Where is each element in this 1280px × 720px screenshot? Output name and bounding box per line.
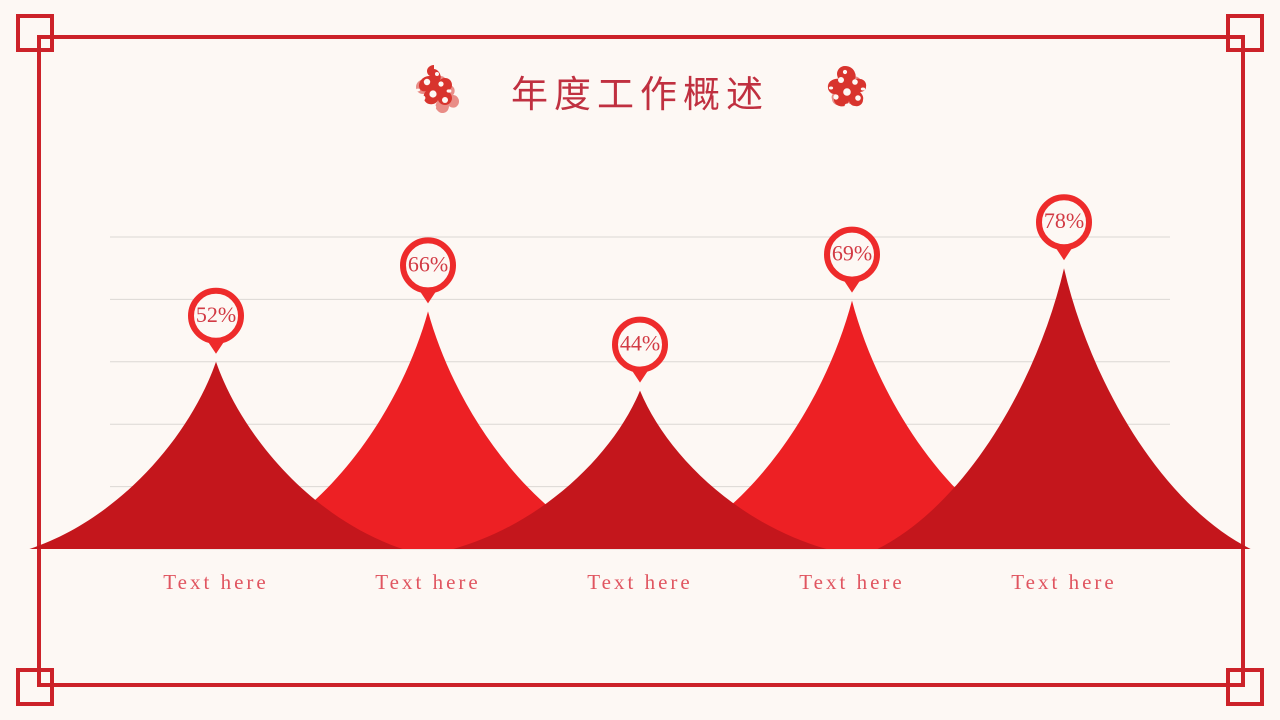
mountain-area-chart: 52%66%44%69%78% xyxy=(110,180,1170,555)
value-marker-pin[interactable]: 66% xyxy=(403,240,453,303)
pin-value-label: 69% xyxy=(832,241,872,266)
category-label: Text here xyxy=(163,570,268,595)
frame-line-left xyxy=(37,35,41,687)
frame-corner-top-left-icon xyxy=(16,14,54,52)
pin-value-label: 66% xyxy=(408,251,448,276)
chart-area: 52%66%44%69%78% xyxy=(110,180,1170,555)
papercut-ornament-left-icon xyxy=(403,60,465,122)
frame-corner-top-right-icon xyxy=(1226,14,1264,52)
pin-value-label: 44% xyxy=(620,331,660,356)
frame-line-top xyxy=(37,35,1245,39)
category-label: Text here xyxy=(375,570,480,595)
value-marker-pin[interactable]: 44% xyxy=(615,320,665,383)
chart-category-labels: Text hereText hereText hereText hereText… xyxy=(110,570,1170,606)
page-title: 年度工作概述 xyxy=(511,64,769,118)
pin-value-label: 52% xyxy=(196,302,236,327)
pin-value-label: 78% xyxy=(1044,208,1084,233)
category-label: Text here xyxy=(587,570,692,595)
value-marker-pin[interactable]: 52% xyxy=(191,291,241,354)
frame-line-right xyxy=(1241,35,1245,687)
category-label: Text here xyxy=(1011,570,1116,595)
value-marker-pin[interactable]: 78% xyxy=(1039,197,1089,260)
category-label: Text here xyxy=(799,570,904,595)
slide-canvas: 年度工作概述 52%66%44%69%78% xyxy=(0,0,1280,720)
frame-corner-bottom-left-icon xyxy=(16,668,54,706)
title-row: 年度工作概述 xyxy=(0,60,1280,122)
frame-corner-bottom-right-icon xyxy=(1226,668,1264,706)
value-marker-pin[interactable]: 69% xyxy=(827,230,877,293)
chart-value-markers: 52%66%44%69%78% xyxy=(191,197,1089,382)
frame-line-bottom xyxy=(37,683,1245,687)
papercut-ornament-right-icon xyxy=(815,60,877,122)
